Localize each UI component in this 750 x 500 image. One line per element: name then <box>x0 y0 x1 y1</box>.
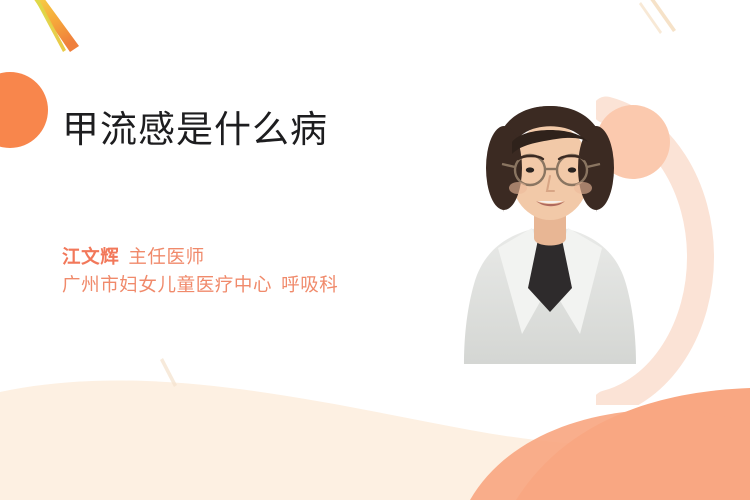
doctor-affiliation: 广州市妇女儿童医疗中心 <box>62 274 272 295</box>
doctor-org-line: 广州市妇女儿童医疗中心呼吸科 <box>62 271 482 299</box>
doctor-identity-line: 江文辉主任医师 <box>62 243 482 271</box>
beige-line-long <box>649 0 676 32</box>
eye-left <box>526 167 534 172</box>
page-title: 甲流感是什么病 <box>62 108 462 152</box>
cheek-right <box>574 182 592 194</box>
doctor-portrait-illustration <box>452 98 648 380</box>
orange-circle <box>0 72 48 148</box>
doctor-meta-block: 江文辉主任医师 广州市妇女儿童医疗中心呼吸科 <box>62 243 482 299</box>
doctor-name: 江文辉 <box>62 246 119 267</box>
doctor-portrait <box>452 98 648 380</box>
salmon-wave-overlap <box>470 410 750 500</box>
title-block: 甲流感是什么病 <box>62 108 462 152</box>
doctor-rank: 主任医师 <box>128 246 204 267</box>
eye-right <box>568 167 576 172</box>
medical-info-card: 甲流感是什么病 江文辉主任医师 广州市妇女儿童医疗中心呼吸科 <box>0 0 750 500</box>
doctor-department: 呼吸科 <box>281 274 338 295</box>
cheek-left <box>509 182 527 194</box>
